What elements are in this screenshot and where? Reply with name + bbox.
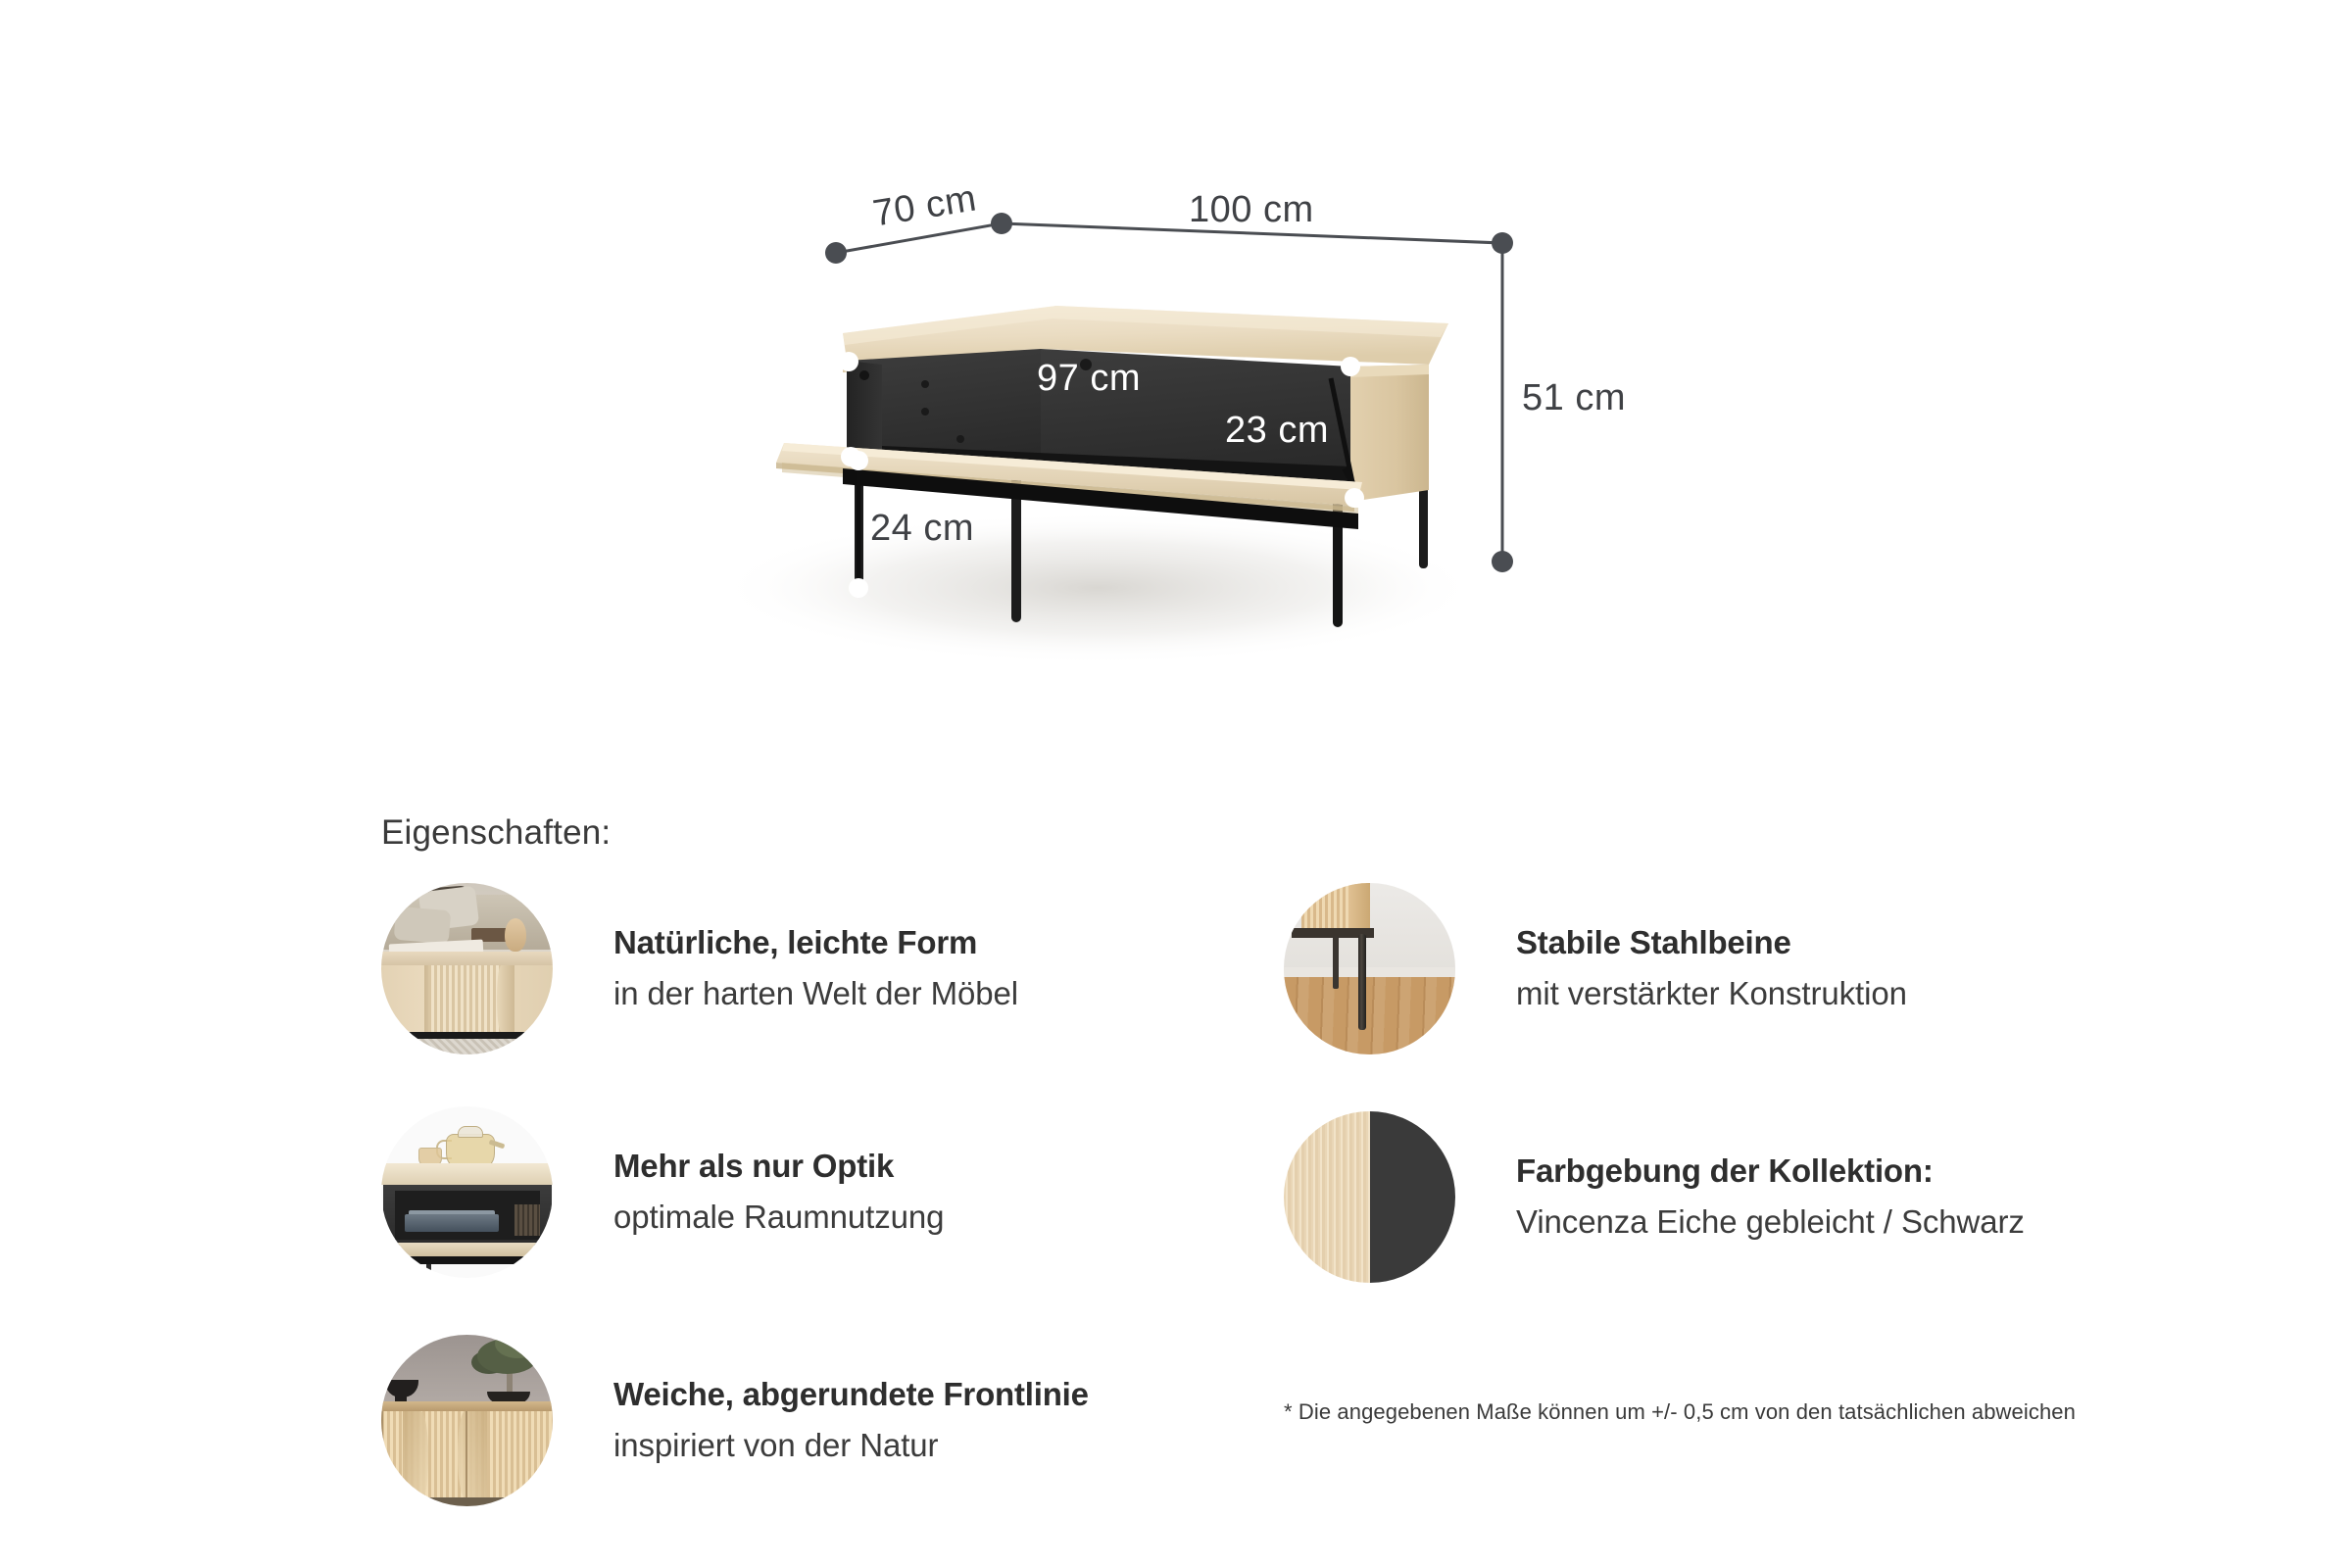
feature-subtitle: inspiriert von der Natur — [613, 1422, 1089, 1469]
feature-item-collection-colours: Farbgebung der Kollektion: Vincenza Eich… — [1284, 1099, 2274, 1295]
olive-tree-sideboard-photo — [381, 1335, 553, 1506]
feature-title: Stabile Stahlbeine — [1516, 919, 1907, 966]
dimension-label-height: 51 cm — [1522, 377, 1626, 419]
dimension-label-leg-height: 24 cm — [870, 508, 974, 550]
steel-leg-closeup-photo — [1284, 883, 1455, 1054]
swatch-wood-half — [1284, 1111, 1370, 1283]
dimension-label-inner-width: 97 cm — [1037, 358, 1141, 400]
measurement-tolerance-footnote: * Die angegebenen Maße können um +/- 0,5… — [1284, 1399, 2076, 1425]
furniture-illustration — [0, 0, 2352, 745]
coffee-table-teapot-photo — [381, 1106, 553, 1278]
feature-text: Natürliche, leichte Form in der harten W… — [613, 919, 1018, 1016]
sofa-slat-sideboard-photo — [381, 883, 553, 1054]
feature-subtitle: mit verstärkter Konstruktion — [1516, 970, 1907, 1017]
swatch-black-half — [1370, 1111, 1455, 1283]
feature-title: Farbgebung der Kollektion: — [1516, 1148, 2025, 1195]
colour-swatch-circle — [1284, 1111, 1455, 1283]
dimension-diagram: 70 cm 100 cm 51 cm 24 cm 97 cm 23 cm — [0, 0, 2352, 745]
feature-text: Farbgebung der Kollektion: Vincenza Eich… — [1516, 1148, 2025, 1245]
dimension-label-inner-height: 23 cm — [1225, 410, 1329, 452]
features-left-column: Natürliche, leichte Form in der harten W… — [381, 875, 1371, 1555]
feature-title: Weiche, abgerundete Frontlinie — [613, 1371, 1089, 1418]
feature-title: Mehr als nur Optik — [613, 1143, 944, 1190]
feature-subtitle: optimale Raumnutzung — [613, 1194, 944, 1241]
feature-text: Stabile Stahlbeine mit verstärkter Konst… — [1516, 919, 1907, 1016]
feature-subtitle: Vincenza Eiche gebleicht / Schwarz — [1516, 1199, 2025, 1246]
feature-item-natural-form: Natürliche, leichte Form in der harten W… — [381, 875, 1371, 1061]
features-right-column: Stabile Stahlbeine mit verstärkter Konst… — [1284, 875, 2274, 1332]
feature-item-soft-front-line: Weiche, abgerundete Frontlinie inspirier… — [381, 1322, 1371, 1518]
feature-item-steel-legs: Stabile Stahlbeine mit verstärkter Konst… — [1284, 875, 2274, 1061]
dimension-label-width: 100 cm — [1189, 189, 1314, 231]
features-section: Eigenschaften: — [0, 764, 2352, 1568]
feature-text: Mehr als nur Optik optimale Raumnutzung — [613, 1143, 944, 1240]
feature-item-more-than-looks: Mehr als nur Optik optimale Raumnutzung — [381, 1099, 1371, 1285]
features-heading: Eigenschaften: — [381, 813, 611, 853]
feature-subtitle: in der harten Welt der Möbel — [613, 970, 1018, 1017]
feature-text: Weiche, abgerundete Frontlinie inspirier… — [613, 1371, 1089, 1468]
feature-title: Natürliche, leichte Form — [613, 919, 1018, 966]
